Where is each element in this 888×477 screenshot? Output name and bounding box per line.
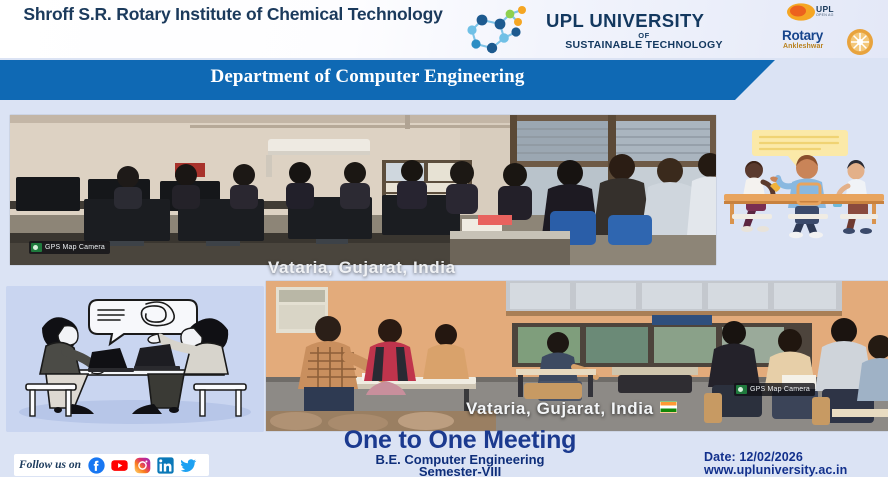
photo2-geo-label: Vataria, Gujarat, India: [466, 399, 677, 419]
event-semester-line: Semester-VIII: [260, 465, 660, 477]
rotary-name: Rotary: [782, 28, 823, 43]
department-title: Department of Computer Engineering: [0, 66, 735, 88]
follow-us-label: Follow us on: [19, 459, 81, 471]
rotary-club-name: Ankleshwar: [783, 43, 823, 50]
rotary-wheel-icon: [846, 28, 874, 56]
people-at-table-discussion-illustration: [716, 122, 888, 242]
upl-logo-name: UPL UNIVERSITY: [546, 12, 742, 31]
university-website[interactable]: www.upluniversity.ac.in: [704, 463, 847, 477]
molecule-network-icon: [462, 2, 548, 56]
follow-us-bar: Follow us on: [14, 454, 209, 476]
upl-mark-sub: OPEN AG: [816, 13, 834, 17]
computer-lab-session-photo: GPS Map Camera: [10, 115, 716, 265]
event-poster: Shroff S.R. Rotary Institute of Chemical…: [0, 0, 888, 477]
gps-camera-icon: [736, 385, 747, 394]
two-people-laptops-conversation-illustration: [6, 286, 264, 432]
gps-map-camera-watermark: GPS Map Camera: [29, 241, 110, 254]
poster-header: Shroff S.R. Rotary Institute of Chemical…: [0, 0, 888, 58]
event-date: Date: 12/02/2026: [704, 450, 803, 464]
facebook-icon[interactable]: [88, 457, 105, 474]
linkedin-icon[interactable]: [157, 457, 174, 474]
classroom-one-to-one-meeting-photo: GPS Map Camera Vataria, Gujarat, India: [266, 281, 888, 431]
rotary-logo: Rotary Ankleshwar: [780, 28, 884, 56]
upl-sun-icon: [786, 2, 816, 22]
twitter-icon[interactable]: [180, 457, 197, 474]
upl-logo-subtitle: SUSTAINABLE TECHNOLOGY: [546, 40, 742, 51]
youtube-icon[interactable]: [111, 457, 128, 474]
corner-logo-group: UPL OPEN AG Rotary Ankleshwar: [780, 2, 884, 56]
instagram-icon[interactable]: [134, 457, 151, 474]
photo1-geo-label: Vataria, Gujarat, India: [268, 258, 456, 278]
gps-map-camera-watermark: GPS Map Camera: [734, 383, 815, 396]
event-title: One to One Meeting: [260, 428, 660, 453]
geo-label-text: Vataria, Gujarat, India: [466, 399, 654, 418]
institute-title: Shroff S.R. Rotary Institute of Chemical…: [18, 4, 448, 25]
upl-logo-text: UPL UNIVERSITY OF SUSTAINABLE TECHNOLOGY: [546, 12, 742, 51]
india-flag-icon: [660, 401, 677, 413]
upl-university-logo: UPL UNIVERSITY OF SUSTAINABLE TECHNOLOGY: [462, 2, 742, 56]
gps-camera-icon: [31, 243, 42, 252]
